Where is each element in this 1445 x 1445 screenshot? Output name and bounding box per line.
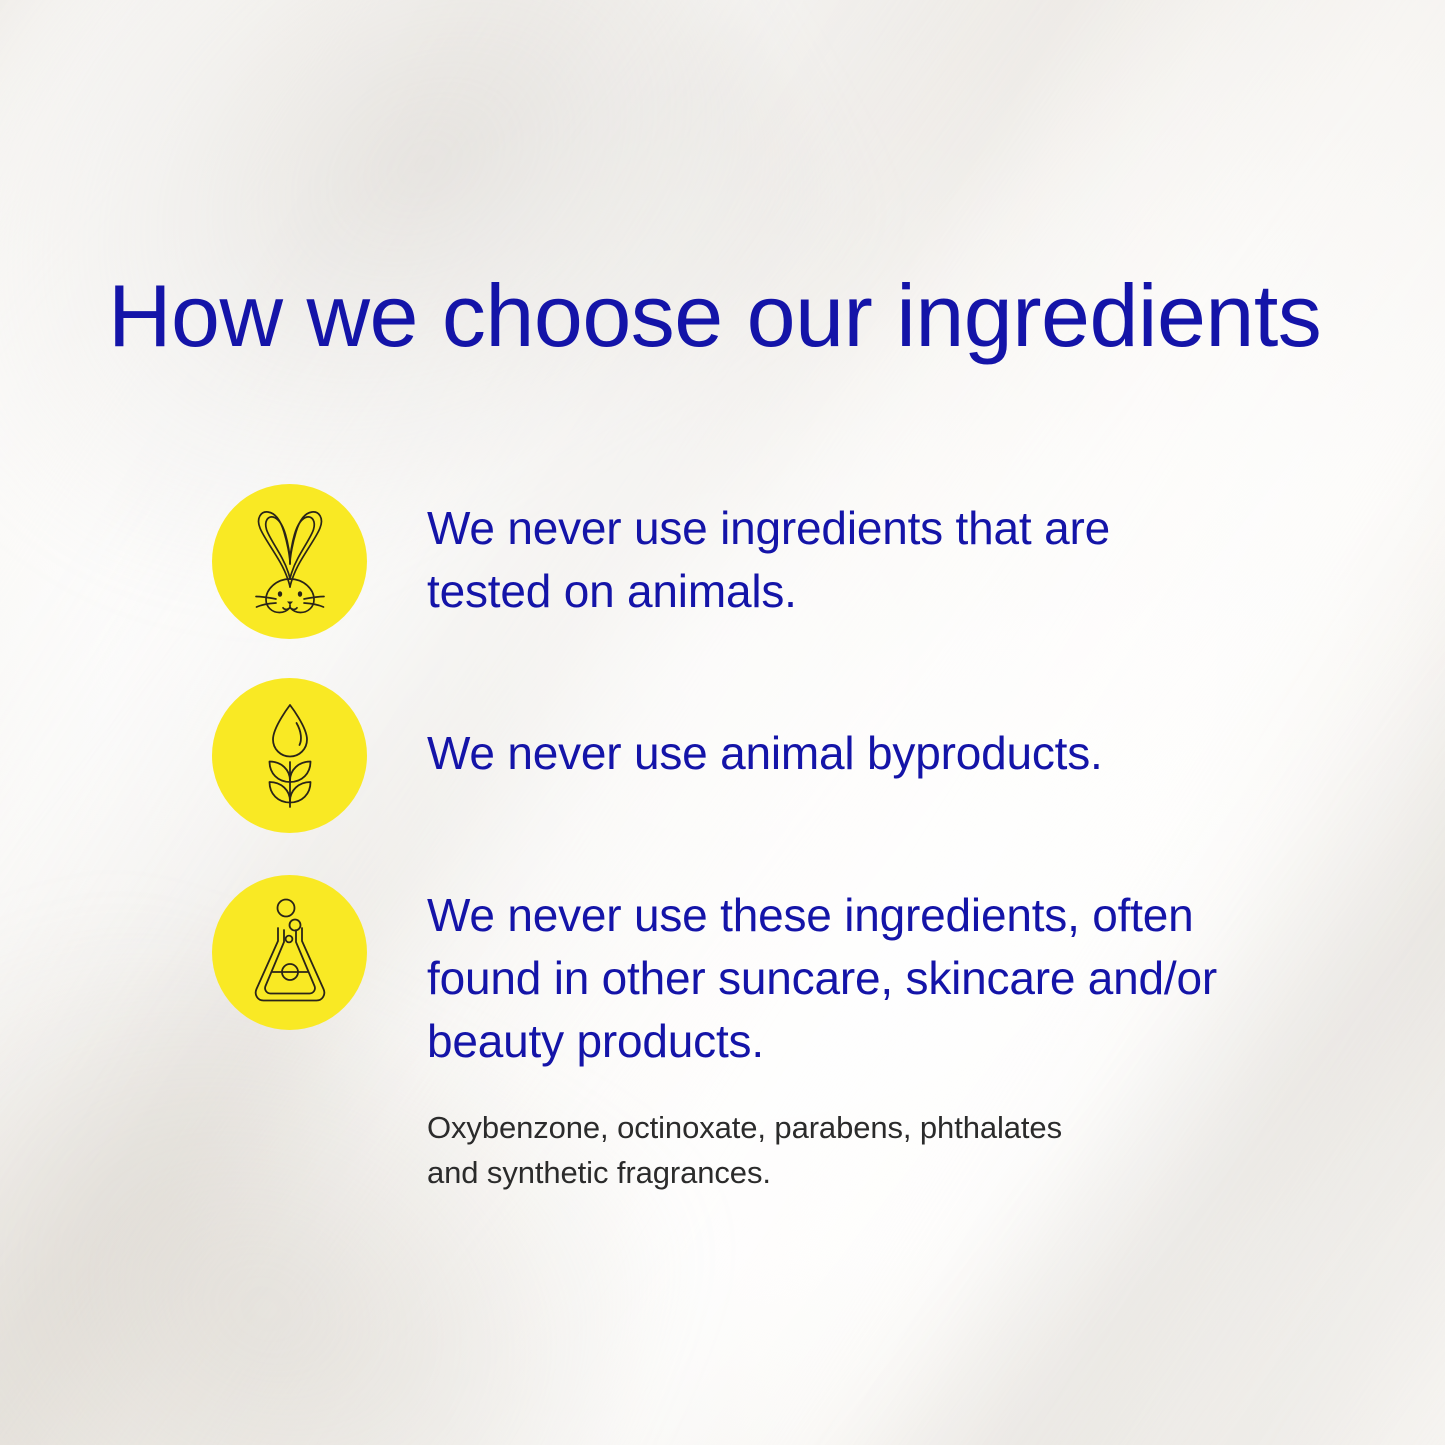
icon-badge-vegan — [212, 678, 367, 833]
chemistry-flask-bubbles-icon — [241, 897, 339, 1009]
claim-line: We never use animal byproducts. — [427, 722, 1103, 785]
fine-print-line: and synthetic fragrances. — [427, 1150, 1062, 1195]
page-title: How we choose our ingredients — [108, 272, 1321, 360]
plant-leaf-droplet-icon — [242, 701, 338, 811]
claim-text-no-harsh-chemicals: We never use these ingredients, often fo… — [427, 884, 1217, 1073]
claim-text-cruelty-free: We never use ingredients that are tested… — [427, 497, 1110, 623]
fine-print-excluded-ingredients: Oxybenzone, octinoxate, parabens, phthal… — [427, 1105, 1062, 1195]
claim-line: beauty products. — [427, 1010, 1217, 1073]
claim-text-no-animal-byproducts: We never use animal byproducts. — [427, 722, 1103, 785]
claim-line: tested on animals. — [427, 560, 1110, 623]
fine-print-line: Oxybenzone, octinoxate, parabens, phthal… — [427, 1105, 1062, 1150]
content-layer: How we choose our ingredients — [0, 0, 1445, 1445]
claim-line: We never use ingredients that are — [427, 497, 1110, 560]
icon-badge-cruelty-free — [212, 484, 367, 639]
bunny-heart-ears-icon — [236, 506, 344, 618]
claim-line: We never use these ingredients, often — [427, 884, 1217, 947]
claim-line: found in other suncare, skincare and/or — [427, 947, 1217, 1010]
icon-badge-no-harsh-chemicals — [212, 875, 367, 1030]
